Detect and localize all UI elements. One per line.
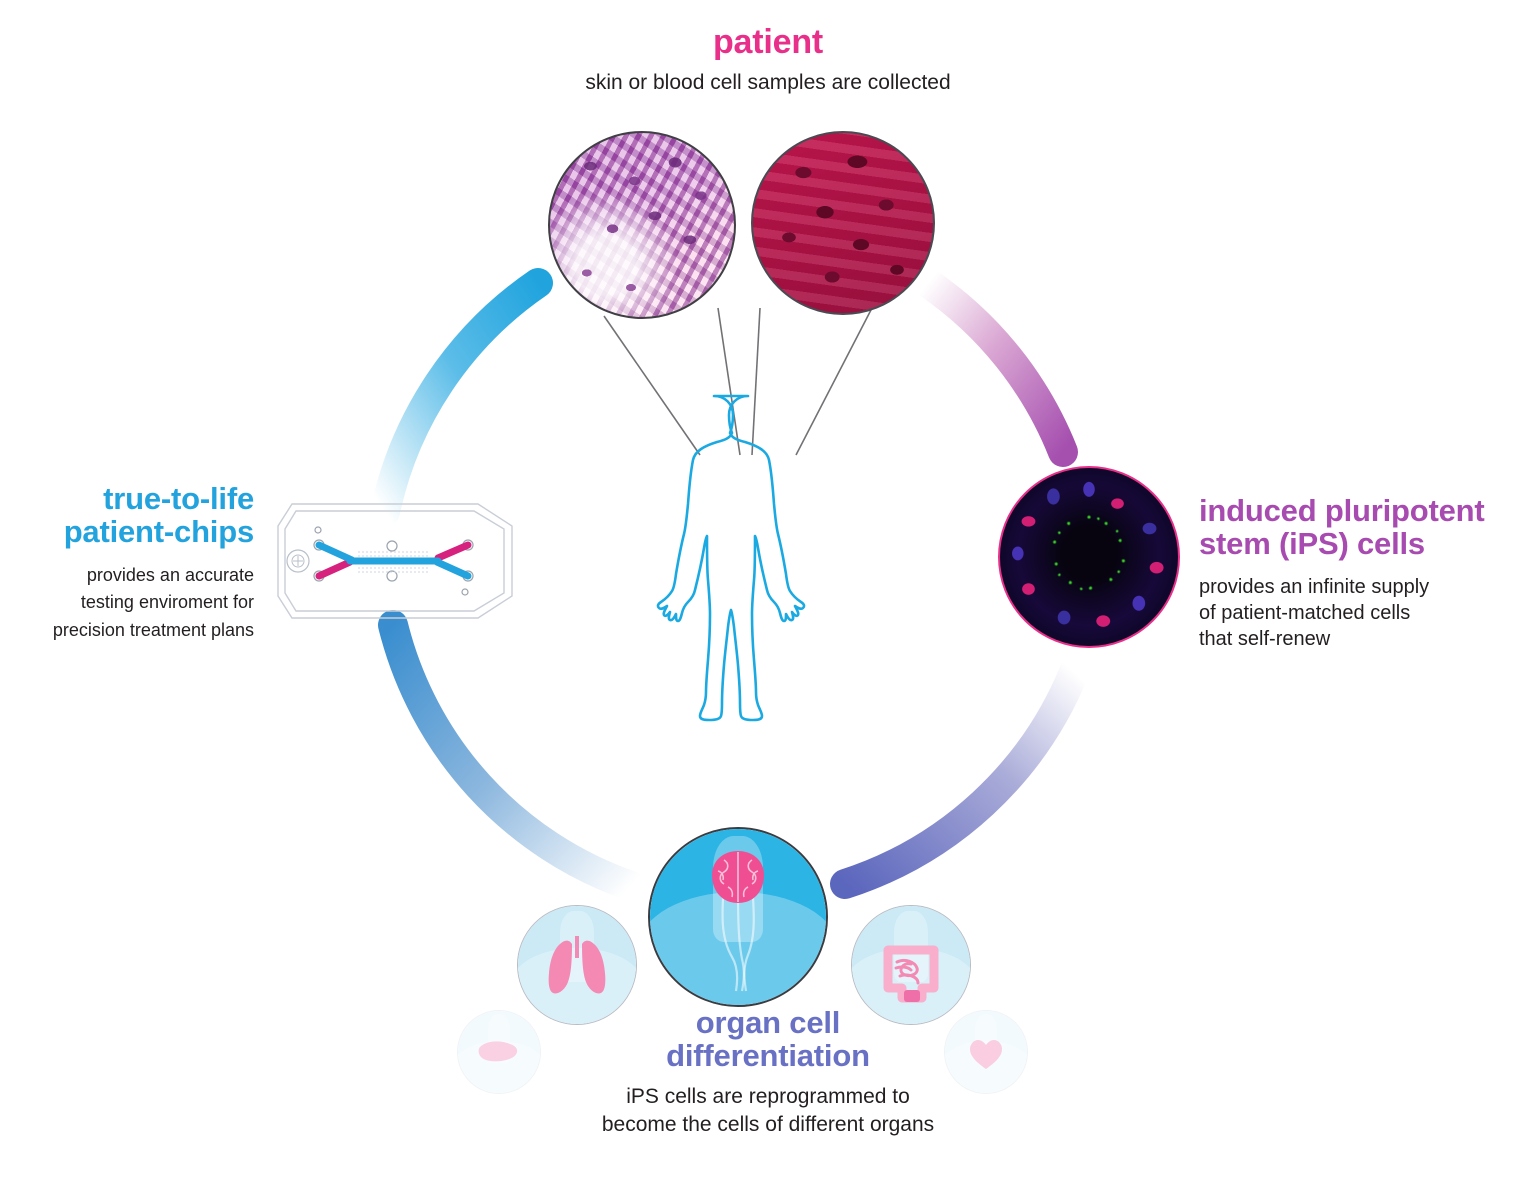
stage-label-patient: patient skin or blood cell samples are c… xyxy=(0,24,1536,96)
infographic-canvas: patient skin or blood cell samples are c… xyxy=(0,0,1536,1184)
stage-label-patient-chips: true-to-life patient-chips provides an a… xyxy=(8,482,254,644)
stage-label-organ-differentiation: organ cell differentiation iPS cells are… xyxy=(0,1006,1536,1138)
organ-on-a-chip-illustration xyxy=(272,500,516,622)
skin-nuclei-texture xyxy=(550,133,734,317)
ips-title: induced pluripotent stem (iPS) cells xyxy=(1199,494,1529,561)
patient-subtitle: skin or blood cell samples are collected xyxy=(0,69,1536,96)
organ-icon-brain xyxy=(648,827,828,1007)
ips-subtitle: provides an infinite supply of patient-m… xyxy=(1199,574,1529,652)
stage-label-ips-cells: induced pluripotent stem (iPS) cells pro… xyxy=(1199,494,1529,652)
chip-subtitle: provides an accurate testing enviroment … xyxy=(8,562,254,644)
skin-micrograph xyxy=(548,131,736,319)
ips-green-rosette xyxy=(1050,514,1128,592)
chip-title: true-to-life patient-chips xyxy=(8,482,254,549)
organ-title: organ cell differentiation xyxy=(0,1006,1536,1073)
ips-cell-micrograph xyxy=(998,466,1180,648)
brain-shape xyxy=(650,829,826,1005)
intestine-coils xyxy=(896,960,918,983)
organ-subtitle: iPS cells are reprogrammed to become the… xyxy=(0,1083,1536,1138)
patient-title: patient xyxy=(0,24,1536,61)
human-body-outline xyxy=(648,382,848,744)
blood-micrograph xyxy=(751,131,935,315)
chip-logo-medallion xyxy=(287,550,309,572)
